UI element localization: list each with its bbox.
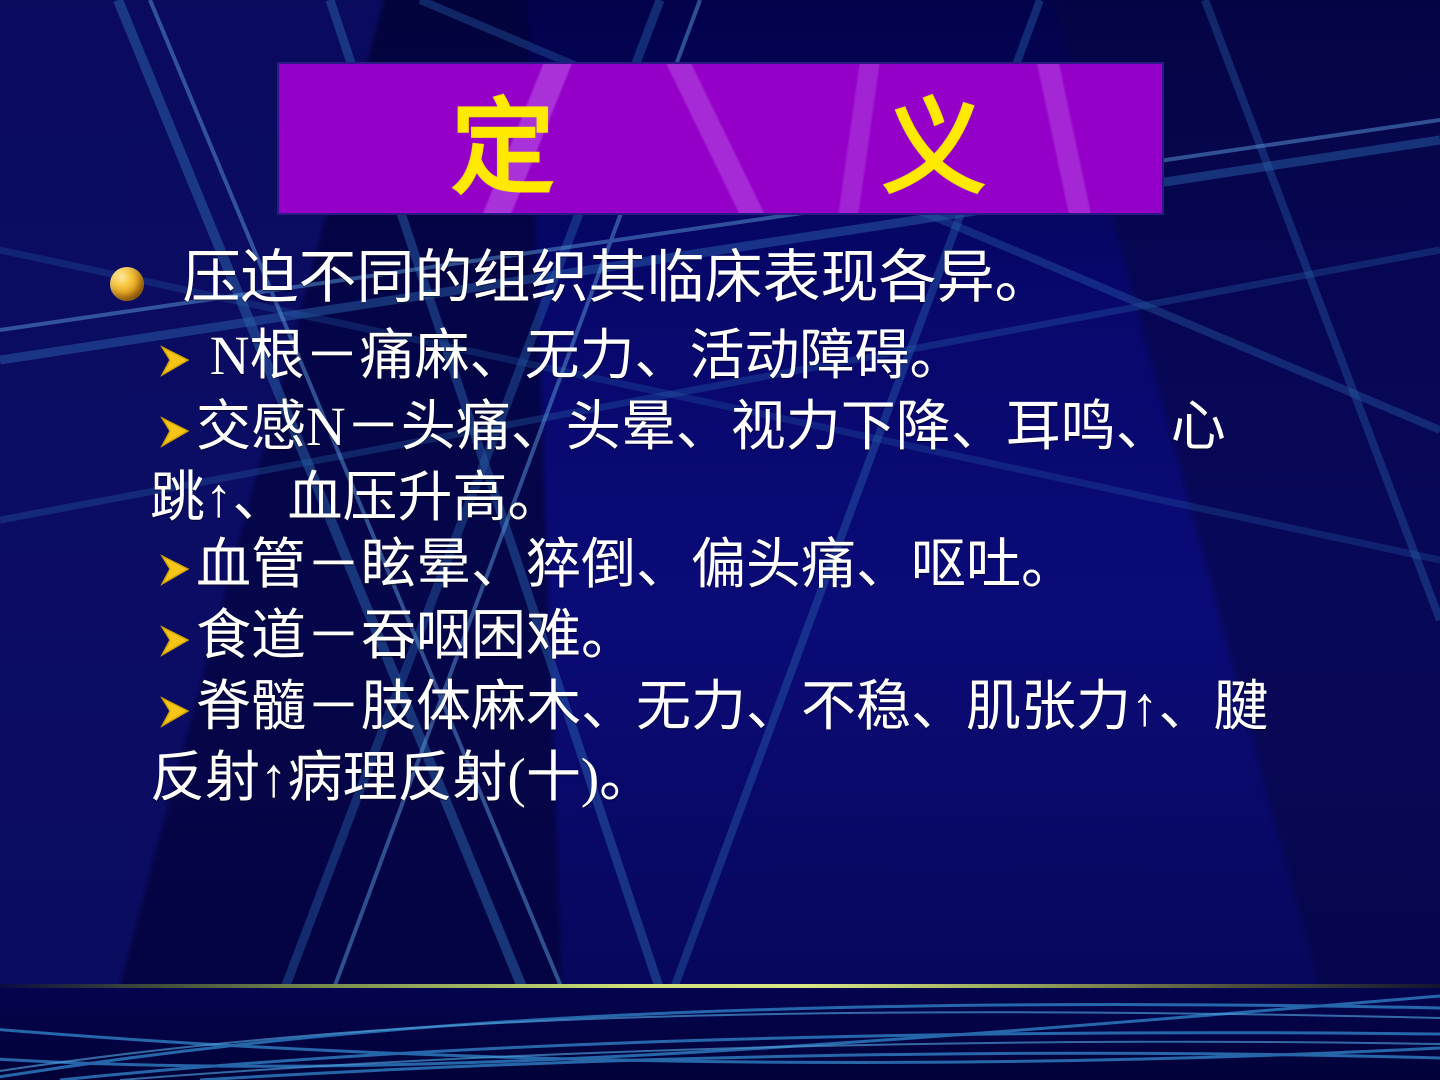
presentation-slide: 定 义 压迫不同的组织其临床表现各异。 N根－痛麻、无力、活动障碍。 交感N－头… [0, 0, 1440, 1080]
list-item: 脊髓－肢体麻木、无力、不稳、肌张力↑、腱 [0, 673, 1440, 740]
gold-arrow-bullet-icon [160, 695, 190, 729]
gold-arrow-bullet-icon [160, 415, 190, 449]
title-banner: 定 义 [277, 62, 1164, 215]
list-item-label: N根－痛麻、无力、活动障碍。 [196, 322, 1440, 389]
list-item-label: 血管－眩晕、猝倒、偏头痛、呕吐。 [196, 531, 1440, 598]
list-item-label: 交感N－头痛、头晕、视力下降、耳鸣、心 [196, 393, 1440, 460]
gold-arrow-bullet-icon [160, 344, 190, 378]
footer-curve-decoration [0, 988, 1440, 1080]
list-item: 血管－眩晕、猝倒、偏头痛、呕吐。 [0, 531, 1440, 598]
gold-arrow-bullet-icon [160, 553, 190, 587]
gold-ball-bullet-icon [110, 267, 144, 301]
list-item-wrapped-line: 跳↑、血压升高。 [0, 464, 1440, 531]
list-item: 交感N－头痛、头晕、视力下降、耳鸣、心 [0, 393, 1440, 460]
list-item: N根－痛麻、无力、活动障碍。 [0, 322, 1440, 389]
list-item-label: 压迫不同的组织其临床表现各异。 [168, 243, 1440, 314]
footer-band [0, 988, 1440, 1080]
gold-arrow-bullet-icon [160, 624, 190, 658]
list-item: 压迫不同的组织其临床表现各异。 [0, 243, 1440, 314]
list-item-label: 食道－吞咽困难。 [196, 602, 1440, 669]
bullet-list: 压迫不同的组织其临床表现各异。 N根－痛麻、无力、活动障碍。 交感N－头痛、头晕… [0, 243, 1440, 811]
list-item-wrapped-line: 反射↑病理反射(十)。 [0, 744, 1440, 811]
page-title: 定 义 [277, 62, 1164, 215]
list-item: 食道－吞咽困难。 [0, 602, 1440, 669]
list-item-label: 脊髓－肢体麻木、无力、不稳、肌张力↑、腱 [196, 673, 1440, 740]
